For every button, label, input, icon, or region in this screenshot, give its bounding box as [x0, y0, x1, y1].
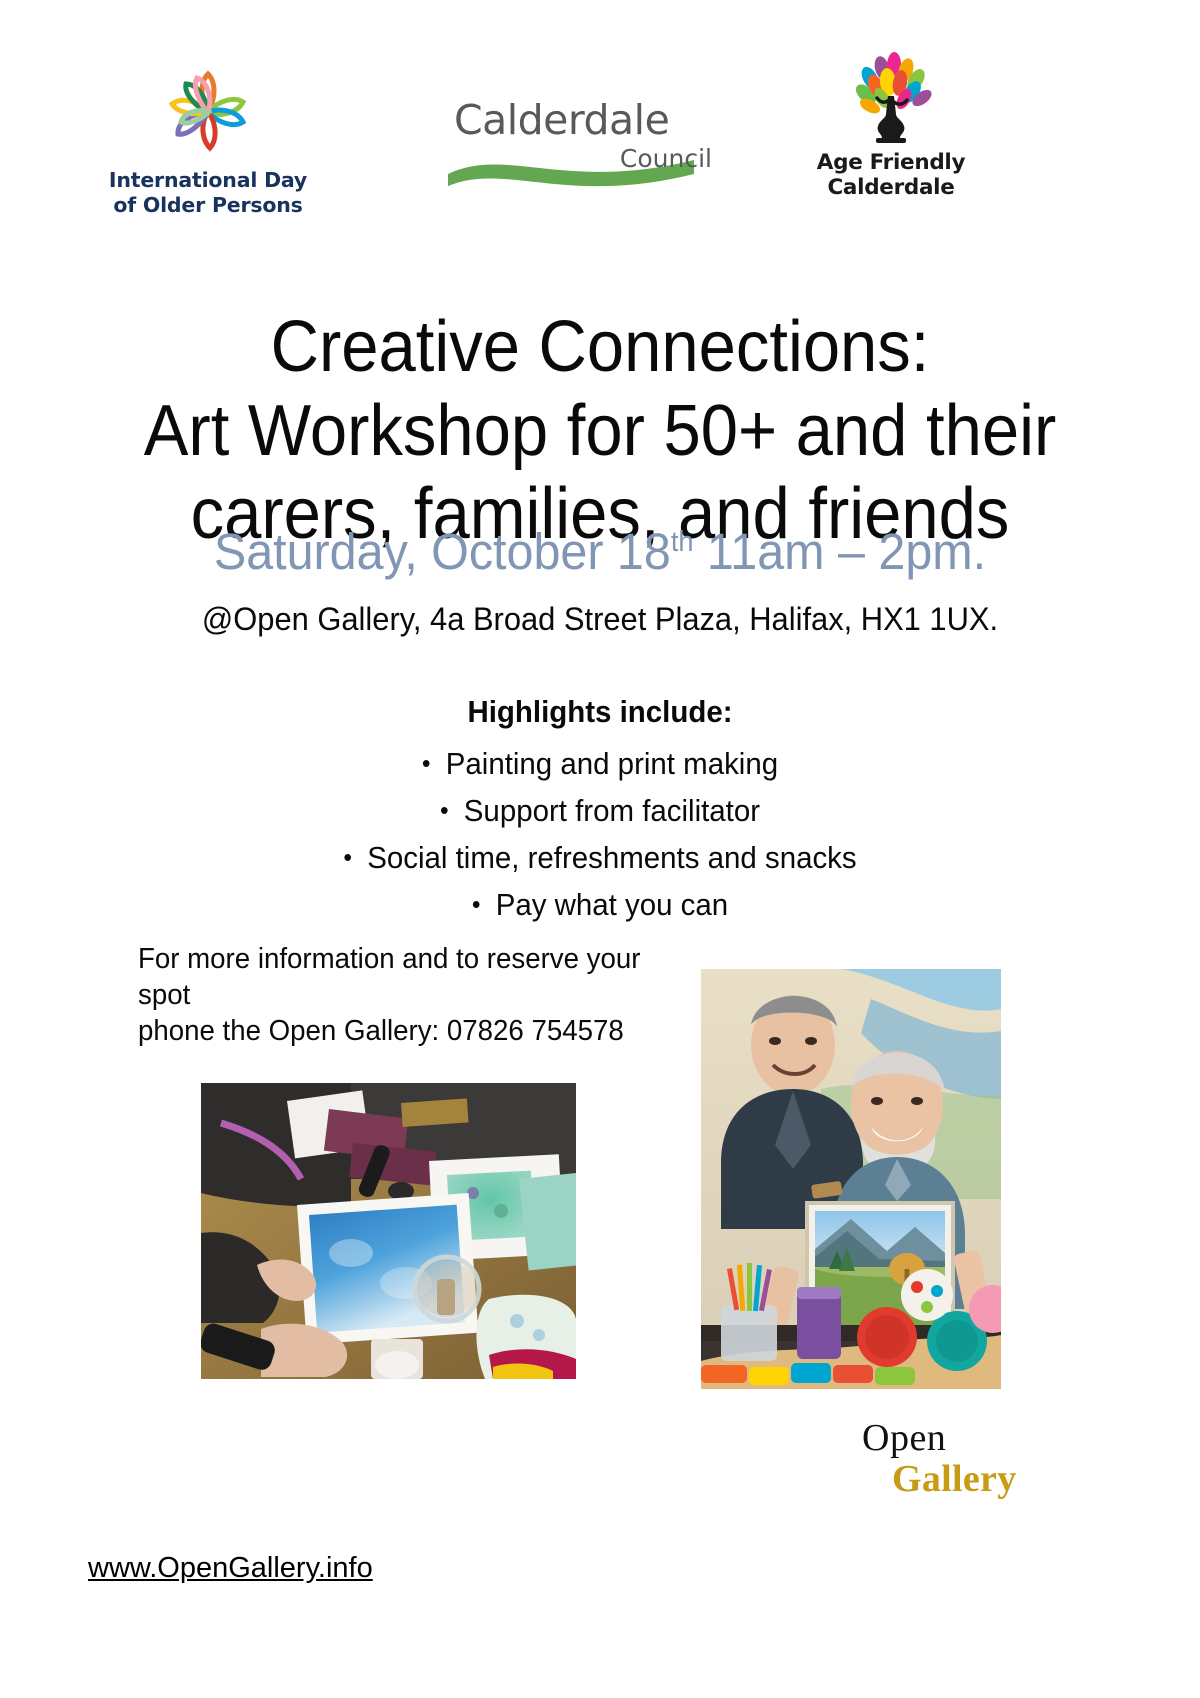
list-item-label: Support from facilitator: [464, 793, 760, 828]
afc-text-line1: Age Friendly: [817, 150, 965, 175]
open-gallery-gallery-word: Gallery: [892, 1459, 1032, 1500]
open-gallery-open-word: Open: [862, 1418, 1032, 1459]
contact-line-1: For more information and to reserve your…: [138, 941, 681, 1013]
title-line-2: Art Workshop for 50+ and their: [98, 390, 1102, 474]
date-ordinal: th: [671, 526, 694, 558]
bullet-icon: •: [472, 881, 481, 928]
list-item: •Painting and print making: [87, 740, 1113, 787]
event-date-time: Saturday, October 18th 11am – 2pm.: [87, 524, 1113, 580]
bullet-icon: •: [422, 740, 431, 787]
list-item-label: Social time, refreshments and snacks: [367, 840, 856, 875]
event-address: @Open Gallery, 4a Broad Street Plaza, Ha…: [87, 600, 1113, 639]
open-gallery-logo: Open Gallery: [862, 1418, 1032, 1500]
date-suffix: 11am – 2pm.: [693, 523, 986, 580]
bullet-icon: •: [440, 787, 449, 834]
bullet-icon: •: [343, 834, 352, 881]
idop-flower-icon: [156, 60, 260, 164]
contact-line-2: phone the Open Gallery: 07826 754578: [138, 1013, 681, 1049]
age-friendly-calderdale-logo: Age Friendly Calderdale: [806, 52, 976, 200]
idop-logo-text: International Day of Older Persons: [108, 168, 308, 218]
page-title: Creative Connections: Art Workshop for 5…: [98, 306, 1102, 557]
idop-text-line2: of Older Persons: [113, 193, 302, 217]
logo-row: International Day of Older Persons Calde…: [0, 48, 1200, 208]
list-item: •Pay what you can: [87, 881, 1113, 928]
list-item: •Support from facilitator: [87, 787, 1113, 834]
idop-text-line1: International Day: [109, 168, 307, 192]
calderdale-council-logo: Calderdale Council: [446, 100, 716, 210]
age-friendly-logo-text: Age Friendly Calderdale: [806, 150, 976, 200]
website-link[interactable]: www.OpenGallery.info: [88, 1552, 373, 1585]
date-prefix: Saturday, October 18: [214, 523, 671, 580]
list-item-label: Painting and print making: [446, 746, 778, 781]
list-item-label: Pay what you can: [496, 887, 728, 922]
calderdale-council-word: Council: [620, 146, 712, 171]
list-item: •Social time, refreshments and snacks: [87, 834, 1113, 881]
calderdale-wordmark: Calderdale: [454, 100, 669, 141]
afc-text-line2: Calderdale: [827, 175, 954, 200]
contact-info: For more information and to reserve your…: [138, 941, 681, 1049]
international-day-older-persons-logo: International Day of Older Persons: [108, 60, 308, 218]
workshop-photo-left: [201, 1083, 576, 1379]
workshop-photo-right: [701, 969, 1001, 1389]
highlights-heading: Highlights include:: [87, 694, 1113, 730]
tree-icon: [836, 52, 946, 148]
highlights-list: •Painting and print making •Support from…: [60, 740, 1140, 928]
title-line-1: Creative Connections:: [98, 306, 1102, 390]
